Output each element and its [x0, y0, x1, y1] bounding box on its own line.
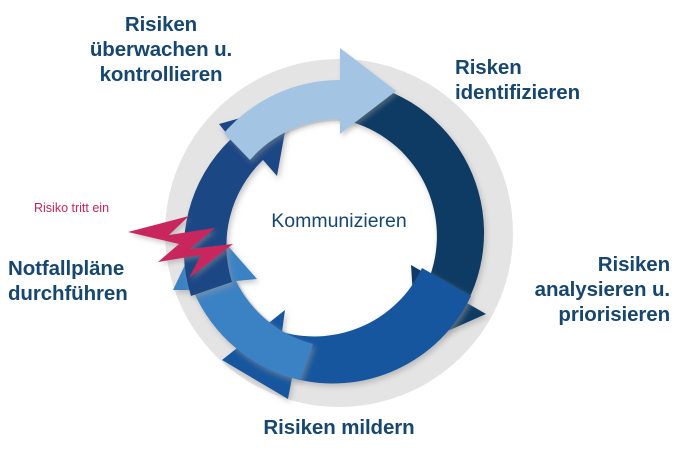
- annotation-risk-event: Risiko tritt ein: [34, 200, 154, 216]
- step-label-identify: Risken identifizieren: [455, 55, 665, 105]
- step-label-monitor: Risiken überwachen u. kontrollieren: [36, 12, 286, 87]
- center-label-communicate: Kommunizieren: [239, 209, 439, 233]
- step-label-mitigate: Risiken mildern: [239, 415, 439, 440]
- risk-management-cycle-diagram: Risiken überwachen u. kontrollieren Risk…: [0, 0, 678, 466]
- step-label-emergency: Notfallpläne durchführen: [8, 256, 178, 306]
- step-label-analyze: Risiken analysieren u. priorisieren: [490, 252, 670, 327]
